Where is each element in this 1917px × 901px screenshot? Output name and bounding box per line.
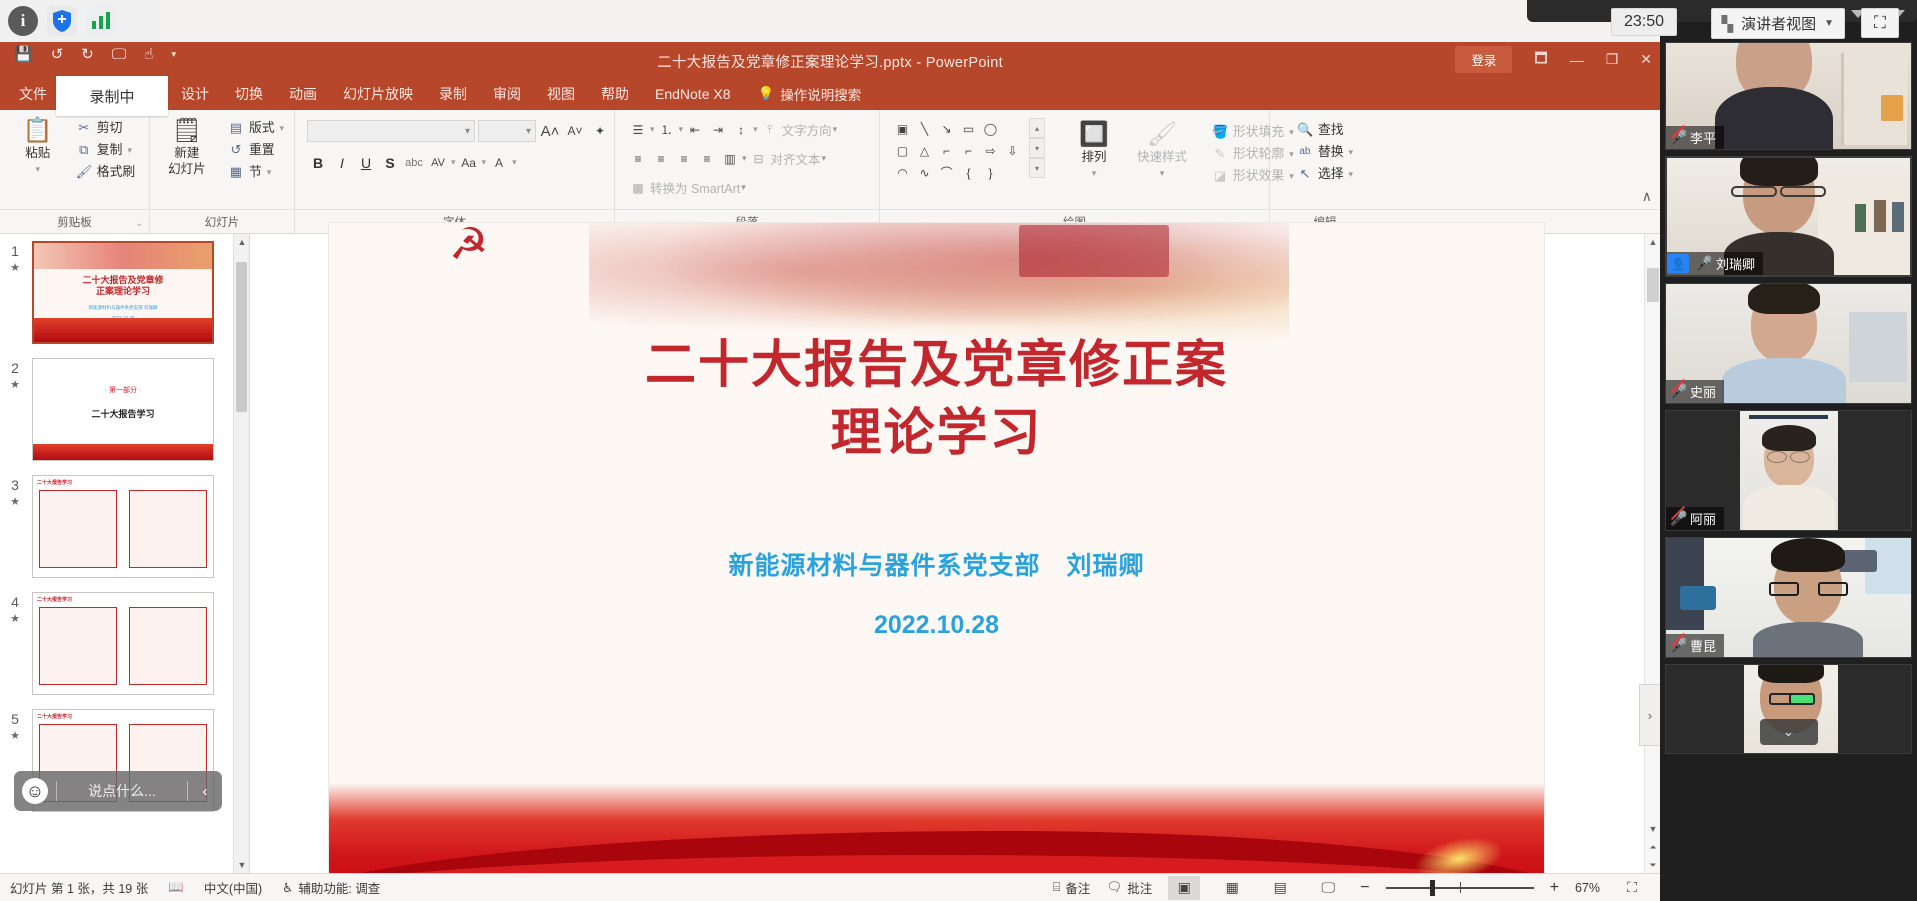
language-label[interactable]: 中文(中国): [204, 878, 262, 897]
search-icon: 🔍: [1297, 121, 1313, 139]
group-label-clipboard-text: 剪贴板: [57, 214, 92, 230]
quick-styles-icon: 🖌: [1147, 122, 1177, 148]
shapes-gallery-scroll[interactable]: ▴ ▾ ▾: [1029, 118, 1045, 178]
slide-thumbnail-1-preview: 二十大报告及党章修正案理论学习 新能源材料与器件系党支部 刘瑞卿 2022.10…: [32, 241, 214, 344]
host-badge-icon: 👤: [1667, 254, 1689, 273]
thumbnail-scrollbar[interactable]: ▲ ▼: [233, 234, 249, 873]
reset-icon: ↺: [228, 141, 244, 159]
layout-button[interactable]: ▤ 版式 ▾: [223, 118, 289, 138]
floating-toolbar[interactable]: i: [0, 0, 160, 42]
select-label: 选择: [1318, 165, 1344, 183]
view-normal-button[interactable]: ▣: [1168, 876, 1200, 900]
tab-transitions[interactable]: 切换: [222, 80, 276, 110]
fit-slide-to-window-button[interactable]: ⛶: [1616, 876, 1648, 900]
ribbon-group-editing: 🔍 查找 ab 替换 ▾ ↖ 选择 ▾: [1270, 110, 1380, 209]
replace-icon: ab: [1297, 143, 1313, 161]
group-label-slides-text: 幻灯片: [205, 214, 240, 230]
arrange-chevron-icon[interactable]: ▾: [1092, 166, 1097, 180]
zoom-slider-knob[interactable]: [1430, 880, 1435, 896]
slide-scroll-up-icon[interactable]: ▲: [1645, 234, 1661, 250]
slide-thumbnail-2[interactable]: 2★ · 第一部分 · 二十大报告学习: [0, 351, 249, 468]
clipboard-dialog-launcher-icon[interactable]: ⌄: [135, 218, 143, 229]
underline-button[interactable]: U: [355, 155, 377, 171]
participant-tile-4[interactable]: 🎤 曹昆: [1665, 537, 1912, 658]
tell-me-search[interactable]: 💡 操作说明搜索: [744, 80, 872, 110]
view-reading-button[interactable]: ▤: [1264, 876, 1296, 900]
slide-scroll-down-icon[interactable]: ▼: [1645, 821, 1661, 837]
participant-name-badge-2: 🎤 史丽: [1666, 380, 1724, 403]
shapes-scroll-down-icon[interactable]: ▾: [1029, 138, 1045, 158]
copy-label: 复制: [97, 141, 123, 159]
change-case-chevron-icon[interactable]: ▾: [482, 157, 487, 168]
slide-count-label: 幻灯片 第 1 张，共 19 张: [10, 878, 148, 897]
document-title: 二十大报告及党章修正案理论学习.pptx - PowerPoint: [0, 51, 1660, 72]
reset-button[interactable]: ↺ 重置: [223, 140, 289, 160]
columns-button[interactable]: ▥: [719, 148, 741, 169]
zoom-slider-midpoint: [1460, 882, 1461, 893]
ribbon-group-paragraph: ☰▾ ⒈▾ ⇤ ⇥ ↕▾ ⫯ 文字方向 ▾ ≡ ≡ ≡ ≡ ▥▾: [615, 110, 880, 209]
columns-chevron-icon[interactable]: ▾: [742, 153, 747, 164]
line-spacing-button[interactable]: ↕: [730, 119, 752, 140]
quick-styles-button[interactable]: 🖌 快速样式 ▾: [1129, 118, 1195, 180]
tell-me-label: 操作说明搜索: [780, 84, 861, 104]
slide-title: 二十大报告及党章修正案 理论学习: [329, 331, 1544, 467]
shape-blank-2-icon[interactable]: [1002, 162, 1023, 183]
chevron-down-icon[interactable]: ▼: [1824, 18, 1834, 29]
ribbon-group-clipboard: 📋 粘贴 ▾ ✂ 剪切 ⧉ 复制 ▾: [0, 110, 150, 209]
fullscreen-button[interactable]: ⛶: [1861, 8, 1899, 38]
slide-canvas[interactable]: ☭ 二十大报告及党章修正案 理论学习 新能源材料与器件系党支部 刘瑞卿 2022…: [328, 222, 1545, 901]
shape-oval-icon[interactable]: ◯: [980, 118, 1001, 139]
accessibility-icon: ♿: [282, 880, 293, 895]
smartart-chevron-icon[interactable]: ▾: [741, 182, 746, 193]
shape-scribble-icon[interactable]: ⌒: [936, 162, 957, 183]
tab-file[interactable]: 文件: [6, 80, 60, 110]
lightbulb-icon: 💡: [758, 86, 775, 102]
slide-scroll-thumb[interactable]: [1647, 268, 1659, 302]
font-color-chevron-icon[interactable]: ▾: [512, 157, 517, 168]
paste-label: 粘贴: [25, 146, 50, 160]
slide-watercolor-decoration: [589, 223, 1289, 341]
party-emblem-icon: ☭: [449, 222, 488, 270]
section-label: 节: [249, 163, 262, 181]
decrease-indent-button[interactable]: ⇤: [684, 119, 706, 140]
layout-label: 版式: [249, 119, 275, 137]
shape-elbow-icon[interactable]: ⌐: [936, 140, 957, 161]
participant-tile-3[interactable]: 🎤 阿丽: [1665, 410, 1912, 531]
shapes-more-icon[interactable]: ▾: [1029, 158, 1045, 178]
shape-fill-icon: 🪣: [1212, 123, 1228, 141]
chat-input[interactable]: 说点什么...: [56, 781, 188, 801]
shapes-scroll-up-icon[interactable]: ▴: [1029, 118, 1045, 138]
thumbnail-scroll-down-icon[interactable]: ▼: [234, 857, 250, 873]
participant-name-badge-4: 🎤 曹昆: [1666, 634, 1724, 657]
slide-number-3: 3★: [2, 475, 28, 511]
layout-chevron-icon[interactable]: ▾: [280, 119, 285, 137]
replace-chevron-icon[interactable]: ▾: [1349, 143, 1354, 161]
format-painter-button[interactable]: 🖌 格式刷: [71, 162, 140, 182]
scissors-icon: ✂: [76, 119, 92, 137]
app-root: 💾 ↺ ↻ 🖵 ☝ ▾ 二十大报告及党章修正案理论学习.pptx - Power…: [0, 0, 1917, 901]
text-direction-icon: ⫯: [759, 119, 781, 140]
select-button[interactable]: ↖ 选择 ▾: [1292, 164, 1358, 184]
quick-styles-chevron-icon[interactable]: ▾: [1160, 166, 1165, 180]
mic-muted-icon: 🎤: [1670, 129, 1685, 146]
slide-thumbnail-3-preview: 二十大报告学习: [32, 475, 214, 578]
video-participant-panel[interactable]: 🎤 李平 👤 🎤 刘瑞卿: [1660, 0, 1917, 901]
slide-date: 2022.10.28: [329, 611, 1544, 640]
paintbrush-icon: 🖌: [76, 163, 92, 181]
meeting-timer: 23:50: [1611, 8, 1677, 36]
align-right-button[interactable]: ≡: [673, 148, 695, 169]
cut-label: 剪切: [97, 119, 123, 137]
change-case-button[interactable]: Aa: [458, 152, 480, 173]
mic-muted-icon: 🎤: [1670, 510, 1685, 527]
slide-thumbnail-3[interactable]: 3★ 二十大报告学习: [0, 468, 249, 585]
thumbnail-scroll-up-icon[interactable]: ▲: [234, 234, 250, 250]
replace-button[interactable]: ab 替换 ▾: [1292, 142, 1358, 162]
character-spacing-chevron-icon[interactable]: ▾: [451, 157, 456, 168]
new-slide-button[interactable]: 🗒 新建 幻灯片: [155, 114, 219, 176]
align-left-button[interactable]: ≡: [627, 148, 649, 169]
align-text-label[interactable]: 对齐文本: [771, 149, 821, 168]
slide-number-5: 5★: [2, 709, 28, 745]
text-shadow-button[interactable]: S: [379, 155, 401, 171]
font-name-combo[interactable]: ▾: [307, 120, 475, 142]
meeting-chat-bar[interactable]: ☺ 说点什么... ‹: [14, 771, 222, 811]
shape-outline-icon: ✎: [1212, 145, 1228, 163]
view-mode-dropdown[interactable]: ▚ 演讲者视图 ▼: [1711, 8, 1845, 39]
view-slideshow-button[interactable]: 🖵: [1312, 876, 1344, 900]
group-label-clipboard: 剪贴板 ⌄: [0, 210, 150, 233]
chart-icon[interactable]: [86, 6, 116, 36]
accessibility-label: 辅助功能: 调查: [298, 878, 380, 897]
shape-textbox-icon[interactable]: ▣: [892, 118, 913, 139]
slide-title-line-1: 二十大报告及党章修正案: [329, 331, 1544, 399]
participant-name-badge-3: 🎤 阿丽: [1666, 507, 1724, 530]
notes-button[interactable]: ⌸ 备注: [1053, 878, 1091, 897]
shape-brace-right-icon[interactable]: }: [980, 162, 1001, 183]
slide-vertical-scrollbar[interactable]: ▲ ▼ ⏶ ⏷: [1644, 234, 1660, 873]
decrease-font-size-button[interactable]: A˅: [564, 121, 586, 142]
ribbon-group-drawing: ▣ ╲ ↘ ▭ ◯ ▢ △ ⌐ ⌐ ⇨ ⇩ ◠ ∿ ⌒: [880, 110, 1270, 209]
work-area: 1★ 二十大报告及党章修正案理论学习 新能源材料与器件系党支部 刘瑞卿 2022…: [0, 234, 1660, 873]
collapse-ribbon-button[interactable]: ∧: [1642, 188, 1652, 205]
participant-tile-2[interactable]: 🎤 史丽: [1665, 283, 1912, 404]
shapes-gallery[interactable]: ▣ ╲ ↘ ▭ ◯ ▢ △ ⌐ ⌐ ⇨ ⇩ ◠ ∿ ⌒: [892, 118, 1023, 183]
slide-editing-stage[interactable]: ☭ 二十大报告及党章修正案 理论学习 新能源材料与器件系党支部 刘瑞卿 2022…: [250, 234, 1660, 873]
participant-name-4: 曹昆: [1690, 636, 1716, 655]
numbering-button[interactable]: ⒈: [656, 119, 678, 140]
view-slide-sorter-button[interactable]: ▦: [1216, 876, 1248, 900]
quick-styles-label: 快速样式: [1137, 150, 1187, 164]
ribbon-tabs[interactable]: 文件 开始 插入 设计 切换 动画 幻灯片放映 录制 审阅 视图 帮助 EndN…: [0, 80, 1660, 110]
participant-name-3: 阿丽: [1690, 509, 1716, 528]
participant-name-badge-0: 🎤 李平: [1666, 126, 1724, 149]
new-slide-label-1: 新建: [174, 146, 199, 160]
italic-button[interactable]: I: [331, 155, 353, 171]
participant-name-badge-1: 👤 🎤 刘瑞卿: [1667, 252, 1763, 275]
shape-effects-icon: ◪: [1212, 167, 1228, 185]
slide-thumbnail-4-preview: 二十大报告学习: [32, 592, 214, 695]
ribbon: 📋 粘贴 ▾ ✂ 剪切 ⧉ 复制 ▾: [0, 110, 1660, 210]
previous-slide-button[interactable]: ⏶: [1645, 839, 1661, 855]
slide-subtitle: 新能源材料与器件系党支部 刘瑞卿: [329, 546, 1544, 582]
group-label-slides: 幻灯片: [150, 210, 295, 233]
close-icon[interactable]: ✕: [1640, 51, 1652, 68]
comments-button[interactable]: 🗨 批注: [1106, 878, 1152, 897]
chat-collapse-icon[interactable]: ‹: [196, 783, 214, 800]
sign-in-button[interactable]: 登录: [1455, 46, 1512, 73]
ribbon-group-font: ▾ ▾ A˄ A˅ ✦ B I U S abc AV ▾ Aa: [295, 110, 615, 209]
slide-number-2: 2★: [2, 358, 28, 394]
replace-label: 替换: [1318, 143, 1344, 161]
tab-record[interactable]: 录制: [426, 80, 480, 110]
bullets-chevron-icon[interactable]: ▾: [650, 124, 655, 135]
font-size-combo[interactable]: ▾: [478, 120, 536, 142]
zoom-in-button[interactable]: +: [1550, 879, 1559, 897]
next-slide-button[interactable]: ⏷: [1645, 857, 1661, 873]
info-icon[interactable]: i: [8, 6, 38, 36]
comments-label: 批注: [1127, 878, 1152, 897]
video-panel-collapse-handle[interactable]: ›: [1639, 684, 1661, 746]
shape-freeform-icon[interactable]: ∿: [914, 162, 935, 183]
accessibility-status[interactable]: ♿ 辅助功能: 调查: [282, 878, 380, 897]
comment-icon: 🗨: [1106, 880, 1122, 895]
numbering-chevron-icon[interactable]: ▾: [679, 124, 684, 135]
font-color-button[interactable]: A: [488, 152, 510, 173]
clear-formatting-button[interactable]: ✦: [589, 121, 611, 142]
slide-thumbnail-2-preview: · 第一部分 · 二十大报告学习: [32, 358, 214, 461]
find-button[interactable]: 🔍 查找: [1292, 120, 1358, 140]
participant-name-2: 史丽: [1690, 382, 1716, 401]
shape-elbow-arrow-icon[interactable]: ⌐: [958, 140, 979, 161]
tab-animations[interactable]: 动画: [276, 80, 330, 110]
ribbon-group-slides: 🗒 新建 幻灯片 ▤ 版式 ▾ ↺ 重置: [150, 110, 295, 209]
tab-view[interactable]: 视图: [534, 80, 588, 110]
new-slide-label-2: 幻灯片: [168, 162, 206, 176]
copy-button[interactable]: ⧉ 复制 ▾: [71, 140, 140, 160]
slide-thumbnail-4[interactable]: 4★ 二十大报告学习: [0, 585, 249, 702]
status-bar: 幻灯片 第 1 张，共 19 张 📖 中文(中国) ♿ 辅助功能: 调查 ⌸ 备…: [0, 873, 1660, 901]
zoom-slider[interactable]: [1386, 887, 1534, 889]
slide-number-4: 4★: [2, 592, 28, 628]
align-text-icon: ⊟: [748, 148, 770, 169]
restore-icon[interactable]: ❐: [1606, 51, 1619, 68]
participant-name-1: 刘瑞卿: [1716, 254, 1755, 273]
shape-arrow-icon[interactable]: ↘: [936, 118, 957, 139]
view-mode-label: 演讲者视图: [1741, 13, 1816, 34]
tab-slideshow[interactable]: 幻灯片放映: [330, 80, 426, 110]
participant-video-3: [1740, 411, 1838, 530]
text-direction-chevron-icon[interactable]: ▾: [833, 124, 838, 135]
thumbnail-scroll-thumb[interactable]: [236, 262, 247, 412]
increase-indent-button[interactable]: ⇥: [707, 119, 729, 140]
new-slide-icon: 🗒: [172, 118, 202, 144]
notes-label: 备注: [1065, 878, 1090, 897]
notes-icon: ⌸: [1053, 880, 1061, 895]
align-text-chevron-icon[interactable]: ▾: [822, 153, 827, 164]
ribbon-display-options-icon[interactable]: 🗖: [1534, 48, 1547, 72]
slide-number-1: 1★: [2, 241, 28, 277]
slide-building-emblem: [1019, 225, 1169, 277]
tab-help[interactable]: 帮助: [588, 80, 642, 110]
layout-icon: ▤: [228, 119, 244, 137]
slide-thumbnail-1[interactable]: 1★ 二十大报告及党章修正案理论学习 新能源材料与器件系党支部 刘瑞卿 2022…: [0, 234, 249, 351]
strikethrough-button[interactable]: abc: [403, 152, 425, 173]
shape-right-arrow-icon[interactable]: ⇨: [980, 140, 1001, 161]
line-spacing-chevron-icon[interactable]: ▾: [753, 124, 758, 135]
tab-endnote[interactable]: EndNote X8: [642, 80, 744, 110]
bold-button[interactable]: B: [307, 155, 329, 171]
mic-muted-icon: 🎤: [1670, 637, 1685, 654]
participant-tile-0[interactable]: 🎤 李平: [1665, 42, 1912, 150]
shape-down-arrow-icon[interactable]: ⇩: [1002, 140, 1023, 161]
shape-triangle-icon[interactable]: △: [914, 140, 935, 161]
cursor-arrow-icon: ↖: [1297, 165, 1313, 183]
zoom-out-button[interactable]: −: [1360, 879, 1369, 897]
spellcheck-icon[interactable]: 📖: [168, 880, 184, 895]
shape-rectangle-icon[interactable]: ▭: [958, 118, 979, 139]
text-direction-label[interactable]: 文字方向: [782, 120, 832, 139]
arrange-label: 排列: [1081, 150, 1106, 164]
paste-button[interactable]: 📋 粘贴 ▾: [9, 114, 67, 176]
participant-tile-1[interactable]: 👤 🎤 刘瑞卿: [1665, 156, 1912, 277]
mic-active-icon: 🎤: [1695, 255, 1710, 272]
participant-panel-more-button[interactable]: ⌄: [1760, 719, 1818, 745]
arrange-button[interactable]: 🔲 排列 ▾: [1063, 118, 1125, 180]
participant-name-0: 李平: [1690, 128, 1716, 147]
recording-indicator: 录制中: [56, 76, 168, 116]
paste-icon: 📋: [23, 118, 53, 144]
select-chevron-icon[interactable]: ▾: [1349, 165, 1354, 183]
justify-button[interactable]: ≡: [696, 148, 718, 169]
section-chevron-icon[interactable]: ▾: [267, 163, 272, 181]
copy-icon: ⧉: [76, 141, 92, 159]
shape-rounded-rect-icon[interactable]: ▢: [892, 140, 913, 161]
align-center-button[interactable]: ≡: [650, 148, 672, 169]
participant-tile-5[interactable]: ⌄: [1665, 664, 1912, 754]
shield-icon[interactable]: [47, 6, 77, 36]
character-spacing-button[interactable]: AV: [427, 152, 449, 173]
arrange-icon: 🔲: [1079, 122, 1109, 148]
powerpoint-window: 💾 ↺ ↻ 🖵 ☝ ▾ 二十大报告及党章修正案理论学习.pptx - Power…: [0, 42, 1660, 901]
emoji-icon[interactable]: ☺: [22, 778, 48, 804]
cut-button[interactable]: ✂ 剪切: [71, 118, 140, 138]
slide-title-line-2: 理论学习: [329, 399, 1544, 467]
title-bar: 💾 ↺ ↻ 🖵 ☝ ▾ 二十大报告及党章修正案理论学习.pptx - Power…: [0, 42, 1660, 80]
bullets-button[interactable]: ☰: [627, 119, 649, 140]
paste-chevron-icon[interactable]: ▾: [36, 162, 41, 176]
copy-chevron-icon[interactable]: ▾: [127, 141, 132, 159]
convert-to-smartart-label[interactable]: 转换为 SmartArt: [650, 178, 740, 197]
smartart-icon: ▩: [627, 177, 649, 198]
increase-font-size-button[interactable]: A˄: [539, 121, 561, 142]
section-icon: ▦: [228, 163, 244, 181]
shape-brace-left-icon[interactable]: {: [958, 162, 979, 183]
title-bar-right: 登录 🗖 — ❐ ✕: [1455, 46, 1652, 73]
shape-line-icon[interactable]: ╲: [914, 118, 935, 139]
minimize-icon[interactable]: —: [1570, 52, 1584, 68]
shape-blank-1-icon[interactable]: [1002, 118, 1023, 139]
tab-review[interactable]: 审阅: [480, 80, 534, 110]
find-label: 查找: [1318, 121, 1344, 139]
tab-design[interactable]: 设计: [168, 80, 222, 110]
reset-label: 重置: [249, 141, 275, 159]
zoom-level-label[interactable]: 67%: [1575, 881, 1600, 895]
layout-view-icon: ▚: [1722, 15, 1734, 33]
mic-muted-icon: 🎤: [1670, 383, 1685, 400]
format-painter-label: 格式刷: [97, 163, 135, 181]
shape-curve-icon[interactable]: ◠: [892, 162, 913, 183]
section-button[interactable]: ▦ 节 ▾: [223, 162, 289, 182]
